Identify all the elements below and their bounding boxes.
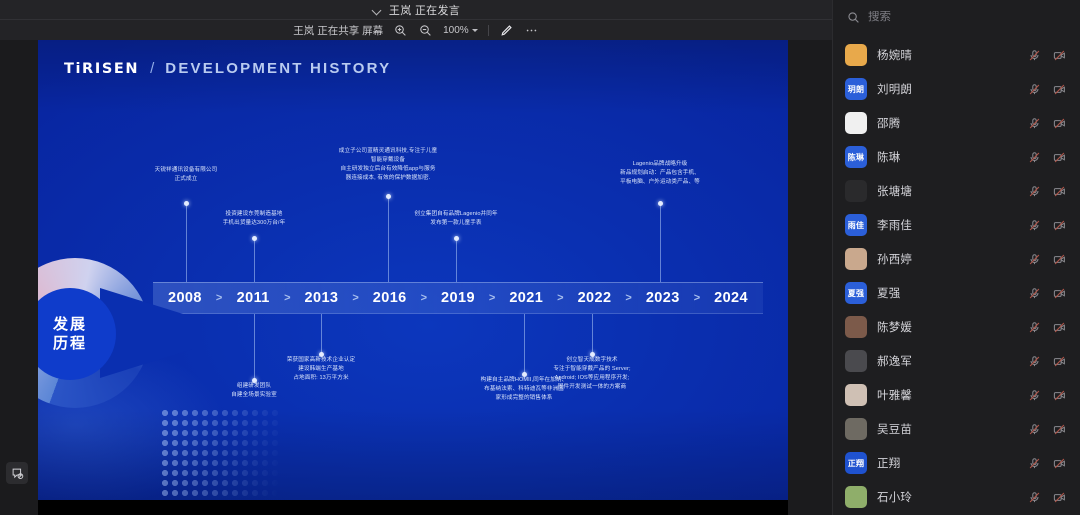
timeline-year-2016: 2016: [373, 290, 407, 306]
avatar: [845, 350, 867, 372]
avatar: [845, 112, 867, 134]
dot-matrix-decoration: [160, 408, 278, 500]
brand-logo: TiRISEN: [64, 61, 139, 77]
mic-off-icon[interactable]: [1028, 151, 1041, 164]
annotation-line: 天锐祥通讯设备有限公司: [96, 166, 276, 175]
search-row: [833, 0, 1080, 34]
avatar: 玥朗: [845, 78, 867, 100]
shared-screen-region[interactable]: TiRISEN / DEVELOPMENT HISTORY 发展 历程 2008…: [38, 40, 788, 515]
annotation-line: 投资建设东莞制造基地: [164, 210, 344, 219]
annotation-line: 智能穿戴设备: [298, 156, 478, 165]
participant-controls: [1028, 117, 1066, 130]
annotation-top-1: 投资建设东莞制造基地手机出货量达300万台/年: [164, 210, 344, 228]
camera-off-icon[interactable]: [1053, 83, 1066, 96]
participant-name: 李雨佳: [877, 217, 1018, 233]
timeline-arrow: >: [421, 292, 427, 304]
camera-off-icon[interactable]: [1053, 457, 1066, 470]
avatar: 雨佳: [845, 214, 867, 236]
annotation-line: 组建研发团队: [164, 382, 344, 391]
timeline-year-cell: 2011: [226, 290, 280, 306]
annotation-line: 发布第一款儿童手表: [366, 219, 546, 228]
participant-name: 刘明朗: [877, 81, 1018, 97]
participant-controls: [1028, 83, 1066, 96]
timeline-arrow: >: [625, 292, 631, 304]
mic-off-icon[interactable]: [1028, 117, 1041, 130]
participant-row[interactable]: 郝逸军: [833, 344, 1080, 378]
badge-line-1: 发展: [53, 316, 87, 333]
timeline-year-cell: 2008: [158, 290, 212, 306]
participant-name: 陈梦媛: [877, 319, 1018, 335]
avatar: [845, 316, 867, 338]
camera-off-icon[interactable]: [1053, 491, 1066, 504]
participant-row[interactable]: 张塘塘: [833, 174, 1080, 208]
avatar: [845, 44, 867, 66]
timeline-year-2023: 2023: [646, 290, 680, 306]
mic-off-icon[interactable]: [1028, 287, 1041, 300]
mic-off-icon[interactable]: [1028, 457, 1041, 470]
participant-name: 邵腾: [877, 115, 1018, 131]
timeline-node: [454, 236, 459, 241]
timeline-stem: [456, 238, 457, 282]
participant-row[interactable]: 陈琳陈琳: [833, 140, 1080, 174]
slide-header: TiRISEN / DEVELOPMENT HISTORY: [64, 60, 391, 77]
avatar: 陈琳: [845, 146, 867, 168]
timeline-arrow: >: [352, 292, 358, 304]
timeline-year-2024: 2024: [714, 290, 748, 306]
participant-controls: [1028, 151, 1066, 164]
participant-name: 郝逸军: [877, 353, 1018, 369]
speaking-status-bar: 王岚 正在发言: [0, 0, 832, 20]
toolbar-divider: [488, 25, 489, 36]
participant-name: 张塘塘: [877, 183, 1018, 199]
participant-controls: [1028, 389, 1066, 402]
mic-off-icon[interactable]: [1028, 83, 1041, 96]
annotation-line: 手机出货量达300万台/年: [164, 219, 344, 228]
participant-name: 叶雅馨: [877, 387, 1018, 403]
share-status-text: 王岚 正在共享 屏幕: [293, 23, 383, 38]
chevron-down-icon[interactable]: [372, 5, 382, 15]
timeline-year-cell: 2023: [636, 290, 690, 306]
annotation-line: 成立子公司蓝精灵通讯科技,专注于儿童: [298, 147, 478, 156]
timeline-stem: [660, 203, 661, 282]
mic-off-icon[interactable]: [1028, 389, 1041, 402]
mic-off-icon[interactable]: [1028, 491, 1041, 504]
participant-row[interactable]: 吴豆苗: [833, 412, 1080, 446]
camera-off-icon[interactable]: [1053, 287, 1066, 300]
annotation-line: 新品规划启动：产品包含手机、: [570, 169, 750, 178]
meeting-window: 王岚 正在发言 王岚 正在共享 屏幕 100%: [0, 0, 1080, 515]
annotation-line: 器连接成本, 有效的保护数据加密.: [298, 174, 478, 183]
camera-off-icon[interactable]: [1053, 117, 1066, 130]
camera-off-icon[interactable]: [1053, 151, 1066, 164]
participant-controls: [1028, 457, 1066, 470]
timeline-years: 2008>2011>2013>2016>2019>2021>2022>2023>…: [158, 282, 758, 314]
zoom-level-select[interactable]: 100%: [443, 25, 478, 36]
timeline-arrow: >: [216, 292, 222, 304]
zoom-level-value: 100%: [443, 25, 469, 36]
annotation-line: 家形成完整的销售体系: [434, 394, 614, 403]
annotation-line: 正式成立: [96, 175, 276, 184]
timeline-year-2008: 2008: [168, 290, 202, 306]
camera-off-icon[interactable]: [1053, 185, 1066, 198]
annotation-top-3: 创立集团自有品牌Lagenio并同年发布第一款儿童手表: [366, 210, 546, 228]
participant-row[interactable]: 正翔正翔: [833, 446, 1080, 480]
badge-line-2: 历程: [53, 335, 87, 352]
camera-off-icon[interactable]: [1053, 219, 1066, 232]
participant-row[interactable]: 石小玲: [833, 480, 1080, 514]
annotation-line: 建设韩端生产基地: [231, 365, 411, 374]
share-toolbar: 王岚 正在共享 屏幕 100%: [0, 20, 832, 40]
camera-off-icon[interactable]: [1053, 389, 1066, 402]
participant-name: 吴豆苗: [877, 421, 1018, 437]
annotation-line: 自主研发独立后台有效降低app与服务: [298, 165, 478, 174]
timeline-arrow: >: [284, 292, 290, 304]
header-separator: /: [150, 60, 154, 77]
slide-title: DEVELOPMENT HISTORY: [165, 60, 391, 77]
participant-row[interactable]: 陈梦媛: [833, 310, 1080, 344]
participant-controls: [1028, 287, 1066, 300]
mic-off-icon[interactable]: [1028, 49, 1041, 62]
timeline-year-cell: 2024: [704, 290, 758, 306]
timeline-year-cell: 2016: [363, 290, 417, 306]
participant-controls: [1028, 321, 1066, 334]
speaking-status-text: 王岚 正在发言: [389, 2, 460, 18]
annotation-bottom-1: 荣获国家高新技术企业认定建设韩端生产基地占地面积: 13万平方米: [231, 356, 411, 383]
participant-name: 杨婉晴: [877, 47, 1018, 63]
notes-disabled-icon[interactable]: [6, 462, 28, 484]
mic-off-icon[interactable]: [1028, 321, 1041, 334]
participant-row[interactable]: 叶雅馨: [833, 378, 1080, 412]
pencil-icon[interactable]: [499, 23, 514, 38]
mic-off-icon[interactable]: [1028, 185, 1041, 198]
more-options-icon[interactable]: [524, 23, 539, 38]
participants-panel: 杨婉晴玥朗刘明朗邵腾陈琳陈琳张塘塘雨佳李雨佳孙西婷夏强夏强陈梦媛郝逸军叶雅馨吴豆…: [832, 0, 1080, 515]
camera-off-icon[interactable]: [1053, 321, 1066, 334]
screen-share-stage: 王岚 正在发言 王岚 正在共享 屏幕 100%: [0, 0, 832, 515]
chevron-down-icon: [472, 29, 478, 32]
annotation-line: 占地面积: 13万平方米: [231, 374, 411, 383]
participant-row[interactable]: 孙西婷: [833, 242, 1080, 276]
participant-controls: [1028, 185, 1066, 198]
timeline-node: [386, 194, 391, 199]
participant-row[interactable]: 夏强夏强: [833, 276, 1080, 310]
camera-off-icon[interactable]: [1053, 49, 1066, 62]
avatar: [845, 180, 867, 202]
participant-controls: [1028, 423, 1066, 436]
timeline-year-2022: 2022: [578, 290, 612, 306]
timeline-year-2011: 2011: [237, 290, 270, 306]
participant-name: 夏强: [877, 285, 1018, 301]
participant-name: 孙西婷: [877, 251, 1018, 267]
participant-row[interactable]: 邵腾: [833, 106, 1080, 140]
participant-list[interactable]: 杨婉晴玥朗刘明朗邵腾陈琳陈琳张塘塘雨佳李雨佳孙西婷夏强夏强陈梦媛郝逸军叶雅馨吴豆…: [833, 38, 1080, 515]
avatar: 正翔: [845, 452, 867, 474]
timeline-arrow: >: [489, 292, 495, 304]
annotation-top-4: Lagenio品牌战略升级新品规划启动：产品包含手机、平板电脑、户外运动类产品、…: [570, 160, 750, 187]
timeline-arrow: >: [557, 292, 563, 304]
annotation-line: 平板电脑、户外运动类产品、等: [570, 178, 750, 187]
mic-off-icon[interactable]: [1028, 253, 1041, 266]
participant-controls: [1028, 49, 1066, 62]
participant-controls: [1028, 355, 1066, 368]
timeline-year-cell: 2019: [431, 290, 485, 306]
avatar: 夏强: [845, 282, 867, 304]
annotation-line: Android; IOS等应用程序开发;: [502, 374, 682, 383]
annotation-bottom-0: 组建研发团队自建全场景实验室: [164, 382, 344, 400]
avatar: [845, 384, 867, 406]
participant-row[interactable]: 雨佳李雨佳: [833, 208, 1080, 242]
timeline-node: [184, 201, 189, 206]
zoom-out-icon[interactable]: [418, 23, 433, 38]
timeline-year-cell: 2013: [295, 290, 349, 306]
presentation-slide: TiRISEN / DEVELOPMENT HISTORY 发展 历程 2008…: [38, 40, 788, 500]
annotation-line: 创立智天成数字技术: [502, 356, 682, 365]
annotation-bottom-3: 创立智天成数字技术专注于智能穿戴产品的 Server;Android; IOS等…: [502, 356, 682, 392]
avatar: [845, 248, 867, 270]
search-icon: [847, 11, 860, 24]
timeline-stem: [321, 314, 322, 354]
timeline-year-2021: 2021: [509, 290, 543, 306]
annotation-line: 创立集团自有品牌Lagenio并同年: [366, 210, 546, 219]
participant-row[interactable]: 玥朗刘明朗: [833, 72, 1080, 106]
participant-row[interactable]: 杨婉晴: [833, 38, 1080, 72]
timeline-year-2019: 2019: [441, 290, 475, 306]
camera-off-icon[interactable]: [1053, 423, 1066, 436]
timeline-node: [658, 201, 663, 206]
timeline-stem: [254, 238, 255, 282]
participant-name: 石小玲: [877, 489, 1018, 505]
avatar: [845, 418, 867, 440]
participant-name: 陈琳: [877, 149, 1018, 165]
annotation-line: Lagenio品牌战略升级: [570, 160, 750, 169]
annotation-line: 荣获国家高新技术企业认定: [231, 356, 411, 365]
mic-off-icon[interactable]: [1028, 423, 1041, 436]
participant-controls: [1028, 219, 1066, 232]
annotation-line: 自建全场景实验室: [164, 391, 344, 400]
camera-off-icon[interactable]: [1053, 253, 1066, 266]
camera-off-icon[interactable]: [1053, 355, 1066, 368]
mic-off-icon[interactable]: [1028, 219, 1041, 232]
timeline-year-cell: 2022: [568, 290, 622, 306]
zoom-in-icon[interactable]: [393, 23, 408, 38]
timeline-year-2013: 2013: [305, 290, 339, 306]
annotation-line: 专注于智能穿戴产品的 Server;: [502, 365, 682, 374]
participant-controls: [1028, 491, 1066, 504]
annotation-top-0: 天锐祥通讯设备有限公司正式成立: [96, 166, 276, 184]
timeline-stem: [388, 196, 389, 282]
timeline-stem: [592, 314, 593, 354]
participant-name: 正翔: [877, 455, 1018, 471]
participant-controls: [1028, 253, 1066, 266]
mic-off-icon[interactable]: [1028, 355, 1041, 368]
timeline-year-cell: 2021: [499, 290, 553, 306]
timeline-node: [252, 236, 257, 241]
timeline-arrow: >: [694, 292, 700, 304]
search-input[interactable]: [868, 11, 1066, 23]
annotation-line: 固件开发测试一体的方案商: [502, 383, 682, 392]
avatar: [845, 486, 867, 508]
annotation-top-2: 成立子公司蓝精灵通讯科技,专注于儿童智能穿戴设备自主研发独立后台有效降低app与…: [298, 147, 478, 183]
